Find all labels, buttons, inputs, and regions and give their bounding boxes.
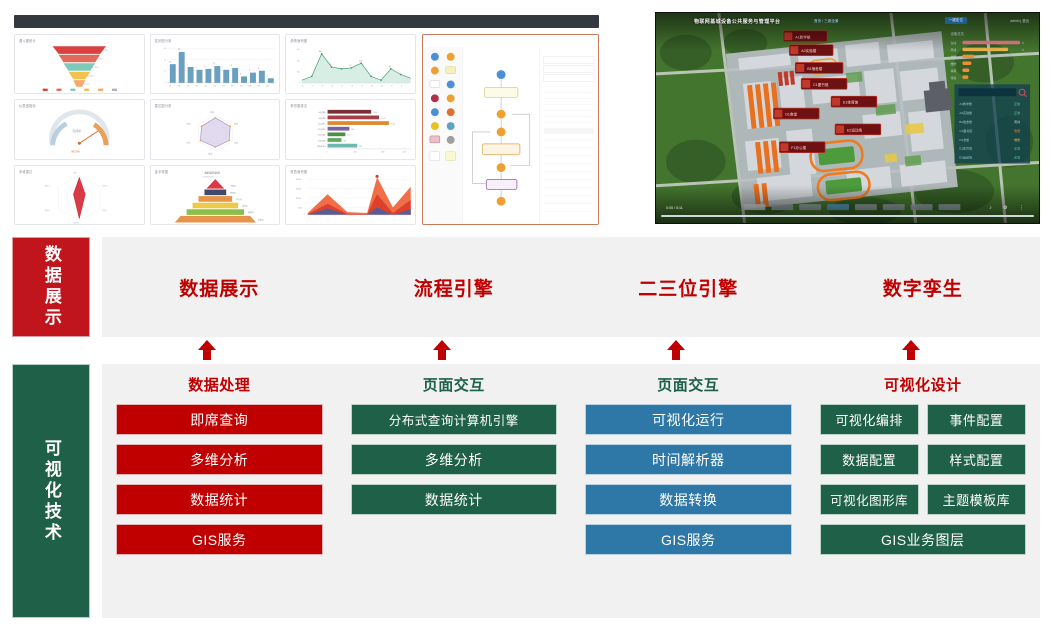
technology-band: 可视化技术 数据处理 即席查询 多维分析 数据统计 GIS服务 页面交互 (12, 364, 1040, 618)
svg-text:08: 08 (371, 86, 373, 88)
svg-text:管理层: 管理层 (230, 190, 236, 194)
chip-row: 数据统计 (351, 484, 558, 515)
chip-spacer (351, 524, 558, 555)
svg-text:0: 0 (327, 152, 328, 154)
map-locate-button[interactable]: 一键定位 (945, 17, 967, 24)
chip[interactable]: GIS服务 (116, 524, 323, 555)
presentation-band: 数据展示 数据展示 流程引擎 二三位引擎 数字孪生 (12, 237, 1040, 337)
svg-text:100000: 100000 (296, 198, 301, 200)
svg-text:200000: 200000 (296, 179, 301, 181)
chip-row: 多维分析 (351, 444, 558, 475)
svg-text:09: 09 (381, 86, 383, 88)
slide-canvas: 漏斗图统计 ··· 32.0%24.5% 17.3%11.2% 6.1% (0, 0, 1051, 636)
presentation-col-4: 数字孪生 (806, 237, 1041, 337)
svg-text:服务: 服务 (234, 122, 238, 126)
chip[interactable]: 可视化运行 (585, 404, 792, 435)
svg-text:20: 20 (164, 59, 166, 61)
svg-text:8月: 8月 (231, 85, 234, 88)
bi-card-area-line: 趋势面积图 ··· 168929 (285, 34, 416, 94)
video-progress-bar[interactable] (661, 215, 1034, 217)
bi-dashboard-titlebar (14, 15, 599, 28)
svg-text:06: 06 (352, 86, 354, 88)
svg-text:1,520: 1,520 (381, 118, 385, 120)
svg-text:120: 120 (360, 60, 363, 62)
chip-row: GIS服务 (116, 524, 323, 555)
arrow-up-icon (900, 339, 922, 361)
chip-stack: 分布式查询计算机引擎 多维分析 数据统计 (351, 404, 558, 555)
svg-text:2: 2 (266, 75, 267, 77)
svg-text:0: 0 (165, 82, 166, 84)
chip-row: 分布式查询计算机引擎 (351, 404, 558, 435)
svg-text:9月: 9月 (240, 85, 243, 88)
chip[interactable]: 事件配置 (927, 404, 1026, 435)
technology-col-title: 页面交互 (423, 374, 485, 395)
gauge-chart-thumb: 完成率 86.5% (15, 100, 144, 158)
bi-card-pyramid: 金字塔图 ··· 组织结构层级 （自顶向下分布） 决 (150, 165, 281, 225)
svg-text:指标一: 指标一 (73, 170, 79, 174)
svg-text:2,180: 2,180 (391, 124, 395, 126)
svg-text:三级分类F: 三级分类F (318, 139, 326, 143)
svg-text:6.1%: 6.1% (84, 84, 89, 86)
svg-text:03: 03 (322, 86, 324, 88)
bi-dashboard-screenshot: 漏斗图统计 ··· 32.0%24.5% 17.3%11.2% 6.1% (14, 15, 599, 225)
svg-text:支撑层: 支撑层 (258, 217, 264, 221)
svg-text:一级分类A: 一级分类A (318, 111, 327, 115)
svg-text:3: 3 (240, 74, 241, 76)
svg-text:销售: 销售 (210, 111, 214, 115)
svg-text:指标五: 指标五 (45, 208, 51, 212)
chip[interactable]: 数据转换 (585, 484, 792, 515)
presentation-col-title: 流程引擎 (414, 274, 494, 301)
bi-card-funnel: 漏斗图统计 ··· 32.0%24.5% 17.3%11.2% 6.1% (14, 34, 145, 94)
svg-text:01: 01 (302, 86, 304, 88)
chip[interactable]: 样式配置 (927, 444, 1026, 475)
arrow-up-icon (665, 339, 687, 361)
svg-text:12: 12 (168, 61, 170, 63)
svg-text:28: 28 (177, 49, 179, 51)
svg-text:520: 520 (348, 135, 351, 137)
svg-text:880: 880 (360, 146, 363, 148)
technology-col-title: 可视化设计 (884, 374, 962, 395)
svg-text:7: 7 (222, 67, 223, 69)
chip[interactable]: 可视化编排 (820, 404, 919, 435)
svg-text:92: 92 (330, 64, 332, 66)
technology-col-3: 页面交互 可视化运行 时间解析器 数据转换 GIS服务 (571, 364, 806, 618)
chip[interactable]: GIS业务图层 (820, 524, 1027, 555)
svg-text:150000: 150000 (296, 188, 301, 190)
svg-text:11月: 11月 (257, 85, 261, 88)
chip-row: GIS服务 (585, 524, 792, 555)
chip-stack: 可视化编排 事件配置 数据配置 样式配置 可视化图形库 主题模板库 GIS业 (820, 404, 1027, 555)
svg-text:成本: 成本 (186, 141, 190, 145)
bi-card-stacked-area: 堆叠面积图 ··· (285, 165, 416, 225)
bar-chart-thumb: 12289 7811 793 562 3020100 1月2月3月 (151, 35, 280, 93)
technology-col-1: 数据处理 即席查询 多维分析 数据统计 GIS服务 (102, 364, 337, 618)
map-user-menu[interactable]: admin | 退出 (1010, 18, 1029, 23)
svg-text:三级分类E: 三级分类E (318, 133, 327, 137)
svg-text:0: 0 (304, 214, 305, 216)
svg-text:二级分类D: 二级分类D (318, 128, 327, 132)
svg-text:9: 9 (231, 65, 232, 67)
svg-text:17.3%: 17.3% (92, 67, 98, 69)
technology-band-label: 可视化技术 (12, 364, 90, 618)
svg-text:8: 8 (204, 66, 205, 68)
svg-text:决策层: 决策层 (230, 183, 236, 187)
flow-diagram-thumb (423, 35, 598, 224)
svg-text:05: 05 (342, 86, 344, 88)
video-timecode: 0:05 / 5:11 (666, 206, 683, 210)
svg-text:二级分类C: 二级分类C (318, 122, 327, 126)
svg-text:指标三: 指标三 (102, 208, 108, 212)
svg-text:02: 02 (312, 86, 314, 88)
arrow-cell-4 (794, 339, 1029, 361)
arrow-cell-1 (90, 339, 325, 361)
svg-text:3000: 3000 (403, 152, 407, 154)
bi-card-radar: 雷达图分析 ··· (150, 99, 281, 159)
presentation-col-title: 二三位引擎 (638, 274, 738, 301)
hbar-chart-thumb: 一级分类A一级分类B 二级分类C二级分类D 三级分类E三级分类F 四级分类G (286, 100, 415, 158)
chip-row: 可视化编排 事件配置 (820, 404, 1027, 435)
chip[interactable]: 多维分析 (116, 444, 323, 475)
svg-text:200: 200 (297, 49, 300, 51)
bi-card-hbar: 条形图排名 ··· 一级分类A一级分类B 二级分类C二级分类D 三级分类E三级分… (285, 99, 416, 159)
chip[interactable]: 可视化图形库 (820, 484, 919, 515)
chip-row: 可视化图形库 主题模板库 (820, 484, 1027, 515)
presentation-band-label: 数据展示 (12, 237, 90, 337)
svg-text:管理: 管理 (208, 152, 212, 156)
chip-row: 多维分析 (116, 444, 323, 475)
svg-text:07: 07 (362, 86, 364, 88)
technology-col-2: 页面交互 分布式查询计算机引擎 多维分析 数据统计 (337, 364, 572, 618)
technology-col-4: 可视化设计 可视化编排 事件配置 数据配置 样式配置 可视化图形库 主题模板库 (806, 364, 1041, 618)
svg-text:100: 100 (297, 72, 300, 74)
chip-row: 时间解析器 (585, 444, 792, 475)
svg-text:11: 11 (401, 86, 403, 88)
svg-text:11: 11 (213, 63, 215, 65)
svg-text:10月: 10月 (248, 85, 252, 88)
svg-text:操作层: 操作层 (242, 203, 248, 207)
chip-row: 可视化运行 (585, 404, 792, 435)
svg-text:150: 150 (297, 60, 300, 62)
presentation-col-title: 数据展示 (179, 274, 259, 301)
funnel-chart-thumb: 32.0%24.5% 17.3%11.2% 6.1% (15, 35, 144, 93)
area-line-chart-thumb: 1689297 12095 2001501000 010203 040506 0… (286, 35, 415, 93)
campus-3d-map: A1教学楼 A2实验楼 B1宿舍楼 C1 (656, 13, 1039, 223)
bi-card-radar-fill: 多维雷达 ··· 指标一指标二指标三 指标四指标五指标六 (14, 165, 145, 225)
chip[interactable]: 多维分析 (351, 444, 558, 475)
bi-dashboard-body: 漏斗图统计 ··· 32.0%24.5% 17.3%11.2% 6.1% (14, 34, 599, 225)
chip[interactable]: 分布式查询计算机引擎 (351, 404, 558, 435)
map-breadcrumb: 首页 / 三维全景 (814, 19, 839, 24)
chip-row: 数据配置 样式配置 (820, 444, 1027, 475)
arrow-up-icon (431, 339, 453, 361)
technology-col-title: 数据处理 (188, 374, 250, 395)
svg-text:研发: 研发 (186, 122, 190, 126)
svg-text:指标四: 指标四 (73, 220, 79, 224)
chip[interactable]: 主题模板库 (927, 484, 1026, 515)
arrow-up-icon (196, 339, 218, 361)
radar-chart-thumb: 销售服务运营 管理成本研发 (151, 100, 280, 158)
svg-text:执行层: 执行层 (236, 197, 242, 201)
arrow-cell-2 (325, 339, 560, 361)
svg-text:5: 5 (249, 70, 250, 72)
svg-text:一级分类B: 一级分类B (318, 116, 327, 120)
bi-card-gauge: 仪表盘指标 ··· 完成率 86.5% (14, 99, 145, 159)
svg-text:0: 0 (299, 82, 300, 84)
svg-text:24.5%: 24.5% (97, 58, 103, 60)
svg-text:指标二: 指标二 (102, 183, 108, 187)
svg-text:（自顶向下分布）: （自顶向下分布） (201, 174, 215, 178)
chip-stack: 即席查询 多维分析 数据统计 GIS服务 (116, 404, 323, 555)
presentation-band-panel: 数据展示 流程引擎 二三位引擎 数字孪生 (102, 237, 1040, 337)
svg-text:640: 640 (352, 129, 355, 131)
svg-text:86.5%: 86.5% (71, 150, 80, 154)
chip-row: GIS业务图层 (820, 524, 1027, 555)
arrows-row (90, 339, 1028, 361)
chip[interactable]: 时间解析器 (585, 444, 792, 475)
svg-text:04: 04 (332, 86, 334, 88)
svg-text:30: 30 (164, 48, 166, 50)
chip-row: 数据转换 (585, 484, 792, 515)
chip-row: 即席查询 (116, 404, 323, 435)
presentation-col-3: 二三位引擎 (571, 237, 806, 337)
svg-text:9: 9 (186, 64, 187, 66)
map-app-title: 物联网基城设备公共服务与管理平台 (694, 18, 780, 25)
stacked-area-chart-thumb: 200000150000 100000500000 (286, 166, 415, 224)
svg-text:3月: 3月 (186, 85, 189, 88)
svg-text:2月: 2月 (177, 85, 180, 88)
svg-text:四级分类G: 四级分类G (317, 144, 326, 148)
svg-text:基础层: 基础层 (248, 210, 254, 214)
svg-text:10: 10 (391, 86, 393, 88)
svg-text:95: 95 (389, 66, 391, 68)
chip[interactable]: GIS服务 (585, 524, 792, 555)
svg-text:组织结构层级: 组织结构层级 (204, 170, 220, 174)
technology-band-panel: 数据处理 即席查询 多维分析 数据统计 GIS服务 页面交互 分布式查询计算机引… (102, 364, 1040, 618)
chip[interactable]: 数据配置 (820, 444, 919, 475)
chip-stack: 可视化运行 时间解析器 数据转换 GIS服务 (585, 404, 792, 555)
svg-text:2000: 2000 (381, 152, 385, 154)
technology-col-title: 页面交互 (657, 374, 719, 395)
chip[interactable]: 数据统计 (351, 484, 558, 515)
svg-text:5月: 5月 (204, 85, 207, 88)
svg-text:6月: 6月 (213, 85, 216, 88)
pyramid-chart-thumb: 组织结构层级 （自顶向下分布） 决策层管理层执行层 操作层基础层支撑层 (151, 166, 280, 224)
svg-text:1000: 1000 (354, 152, 358, 154)
svg-text:完成率: 完成率 (72, 128, 81, 133)
presentation-band-label-text: 数据展示 (42, 245, 60, 329)
svg-text:指标六: 指标六 (45, 183, 51, 187)
svg-text:7月: 7月 (222, 85, 225, 88)
video-controls[interactable]: ♪ ⚙ ⋮ (989, 205, 1029, 211)
chip-row: 数据统计 (116, 484, 323, 515)
svg-text:运营: 运营 (234, 141, 238, 145)
technology-band-label-text: 可视化技术 (42, 439, 60, 544)
presentation-col-1: 数据展示 (102, 237, 337, 337)
svg-text:1,240: 1,240 (373, 113, 377, 115)
svg-text:6: 6 (258, 68, 259, 70)
svg-text:7: 7 (195, 67, 196, 69)
bi-card-bar: 柱状图分析 ··· (150, 34, 281, 94)
digital-twin-screenshot: A1教学楼 A2实验楼 B1宿舍楼 C1 (655, 12, 1040, 224)
radar-fill-chart-thumb: 指标一指标二指标三 指标四指标五指标六 (15, 166, 144, 224)
presentation-col-2: 流程引擎 (337, 237, 572, 337)
chip[interactable]: 即席查询 (116, 404, 323, 435)
screenshots-row: 漏斗图统计 ··· 32.0%24.5% 17.3%11.2% 6.1% (0, 0, 1051, 232)
svg-text:97: 97 (350, 65, 352, 67)
svg-text:1月: 1月 (168, 85, 171, 88)
svg-text:10: 10 (164, 71, 166, 73)
svg-text:12月: 12月 (265, 85, 269, 88)
svg-text:11.2%: 11.2% (87, 75, 93, 77)
arrow-cell-3 (559, 339, 794, 361)
bi-chart-grid: 漏斗图统计 ··· 32.0%24.5% 17.3%11.2% 6.1% (14, 34, 416, 225)
bi-flow-designer-panel: 业务流程编排 (422, 34, 599, 225)
presentation-col-title: 数字孪生 (883, 274, 963, 301)
svg-text:168: 168 (319, 51, 322, 53)
chip[interactable]: 数据统计 (116, 484, 323, 515)
svg-text:50000: 50000 (298, 207, 303, 209)
svg-text:32.0%: 32.0% (102, 50, 108, 52)
svg-text:4月: 4月 (195, 85, 198, 88)
svg-text:380: 380 (344, 141, 347, 143)
